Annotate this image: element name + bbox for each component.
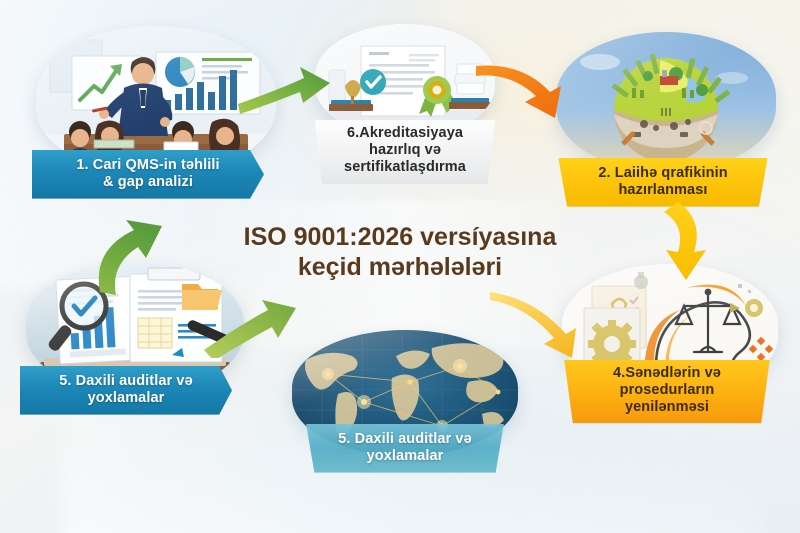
step-2-image [556, 32, 776, 172]
step-2-node[interactable]: 2. Laiihə qrafikinin hazırlanması [556, 32, 776, 172]
step-6-label-line2: hazırlıq və [321, 142, 489, 159]
step-5-label-line2: yoxlamalar [30, 390, 222, 407]
step-5-label-line1: 5. Daxili auditlar və [30, 373, 222, 390]
page-title: ISO 9001:2026 versíyasına keçid mərhələl… [190, 222, 610, 282]
step-4-label-line2: prosedurların [570, 382, 764, 399]
step-5-duplicate-label[interactable]: 5. Daxili auditlar və yoxlamalar [302, 424, 508, 473]
page-title-line2: keçid mərhələləri [190, 252, 610, 282]
step-5-duplicate-label-line1: 5. Daxili auditlar və [312, 431, 498, 448]
step-1-label[interactable]: 1. Cari QMS-in təhlili & gap analizi [32, 150, 264, 199]
step-2-label-line2: hazırlanması [564, 182, 762, 199]
green-planet-globe-icon [556, 32, 776, 172]
step-4-label-line3: yenilənməsi [570, 399, 764, 416]
step-2-label-line1: 2. Laiihə qrafikinin [564, 165, 762, 182]
step-5-duplicate-node[interactable]: 5. Daxili auditlar və yoxlamalar [292, 330, 518, 456]
step-4-label-line1: 4.Sənədlərin və [570, 365, 764, 382]
page-title-line1: ISO 9001:2026 versíyasına [190, 222, 610, 252]
step-4-label[interactable]: 4.Sənədlərin və prosedurların yenilənməs… [560, 360, 774, 423]
step-5-label[interactable]: 5. Daxili auditlar və yoxlamalar [20, 366, 232, 415]
step-6-label-line1: 6.Akreditasiyaya [321, 125, 489, 142]
step-1-label-line1: 1. Cari QMS-in təhlili [42, 157, 254, 174]
step-5-duplicate-label-line2: yoxlamalar [312, 448, 498, 465]
step-6-node[interactable]: 6.Akreditasiyaya hazırlıq və sertifikatl… [315, 24, 495, 138]
step-4-node[interactable]: 4.Sənədlərin və prosedurların yenilənməs… [562, 264, 778, 396]
infographic-canvas: 1. Cari QMS-in təhlili & gap analizi [0, 0, 800, 533]
step-1-label-line2: & gap analizi [42, 174, 254, 191]
step-6-label-line3: sertifikatlaşdırma [321, 159, 489, 176]
step-6-label[interactable]: 6.Akreditasiyaya hazırlıq və sertifikatl… [311, 120, 499, 183]
step-2-label[interactable]: 2. Laiihə qrafikinin hazırlanması [554, 158, 772, 207]
step-1-node[interactable]: 1. Cari QMS-in təhlili & gap analizi [36, 26, 276, 176]
